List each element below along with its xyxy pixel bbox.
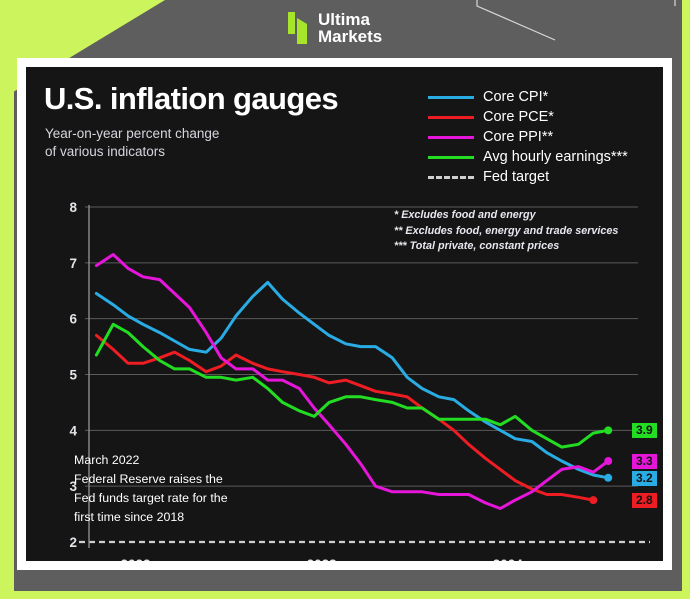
series-endpoint-3 [604, 426, 612, 434]
annotation-line-1: Federal Reserve raises the [74, 470, 228, 489]
y-tick-label: 8 [69, 200, 77, 215]
x-tick-label: 2022 [121, 557, 151, 561]
annotation-line-0: March 2022 [74, 451, 228, 470]
brand-logo: Ultima Markets [288, 10, 382, 46]
series-endpoint-2 [604, 457, 612, 465]
chart-annotation: March 2022Federal Reserve raises theFed … [74, 451, 228, 527]
legend-item-3[interactable]: Avg hourly earnings*** [428, 147, 628, 167]
series-end-value-label-1: 2.8 [632, 493, 657, 508]
legend-item-0[interactable]: Core CPI* [428, 87, 628, 107]
legend-label: Core PPI** [483, 129, 553, 145]
y-tick-label: 6 [69, 312, 77, 327]
chart-card: 2345678202220232024 U.S. inflation gauge… [26, 67, 663, 561]
legend-label: Core CPI* [483, 89, 548, 105]
y-tick-label: 4 [69, 423, 77, 438]
annotation-line-2: Fed funds target rate for the [74, 489, 228, 508]
footnote-1: ** Excludes food, energy and trade servi… [394, 224, 618, 240]
footnote-2: *** Total private, constant prices [394, 239, 618, 255]
series-endpoint-1 [589, 496, 597, 504]
decorative-lime-bottom-strip [0, 591, 690, 599]
decorative-lime-left-strip [0, 0, 14, 599]
y-tick-label: 7 [69, 256, 77, 271]
brand-name-line1: Ultima [318, 11, 382, 28]
legend-swatch-icon [428, 136, 474, 139]
y-tick-label: 5 [69, 368, 77, 383]
legend-item-fed-target[interactable]: Fed target [428, 167, 628, 187]
brand-name-line2: Markets [318, 28, 382, 45]
y-tick-label: 2 [69, 535, 77, 550]
legend-label: Core PCE* [483, 109, 554, 125]
chart-subtitle: Year-on-year percent change of various i… [45, 125, 219, 161]
chart-legend: Core CPI*Core PCE*Core PPI**Avg hourly e… [428, 87, 628, 187]
x-tick-label: 2024 [493, 557, 524, 561]
legend-label: Avg hourly earnings*** [483, 149, 628, 165]
series-endpoint-0 [604, 474, 612, 482]
legend-item-2[interactable]: Core PPI** [428, 127, 628, 147]
series-line-0 [96, 282, 608, 477]
chart-subtitle-line1: Year-on-year percent change [45, 125, 219, 143]
series-end-value-label-2: 3.3 [632, 454, 657, 469]
ultima-logo-icon [288, 10, 310, 46]
chart-subtitle-line2: of various indicators [45, 143, 219, 161]
series-end-value-label-3: 3.9 [632, 423, 657, 438]
legend-label: Fed target [483, 169, 549, 185]
legend-swatch-icon [428, 116, 474, 119]
series-end-value-label-0: 3.2 [632, 471, 657, 486]
legend-swatch-dashed-icon [428, 176, 474, 179]
chart-footnotes: * Excludes food and energy** Excludes fo… [394, 208, 618, 255]
series-line-3 [96, 324, 608, 447]
x-tick-label: 2023 [307, 557, 338, 561]
footnote-0: * Excludes food and energy [394, 208, 618, 224]
legend-item-1[interactable]: Core PCE* [428, 107, 628, 127]
chart-frame: 2345678202220232024 U.S. inflation gauge… [17, 58, 672, 570]
legend-swatch-icon [428, 96, 474, 99]
brand-wordmark: Ultima Markets [318, 11, 382, 45]
chart-title: U.S. inflation gauges [44, 81, 338, 117]
annotation-line-3: first time since 2018 [74, 508, 228, 527]
legend-swatch-icon [428, 156, 474, 159]
